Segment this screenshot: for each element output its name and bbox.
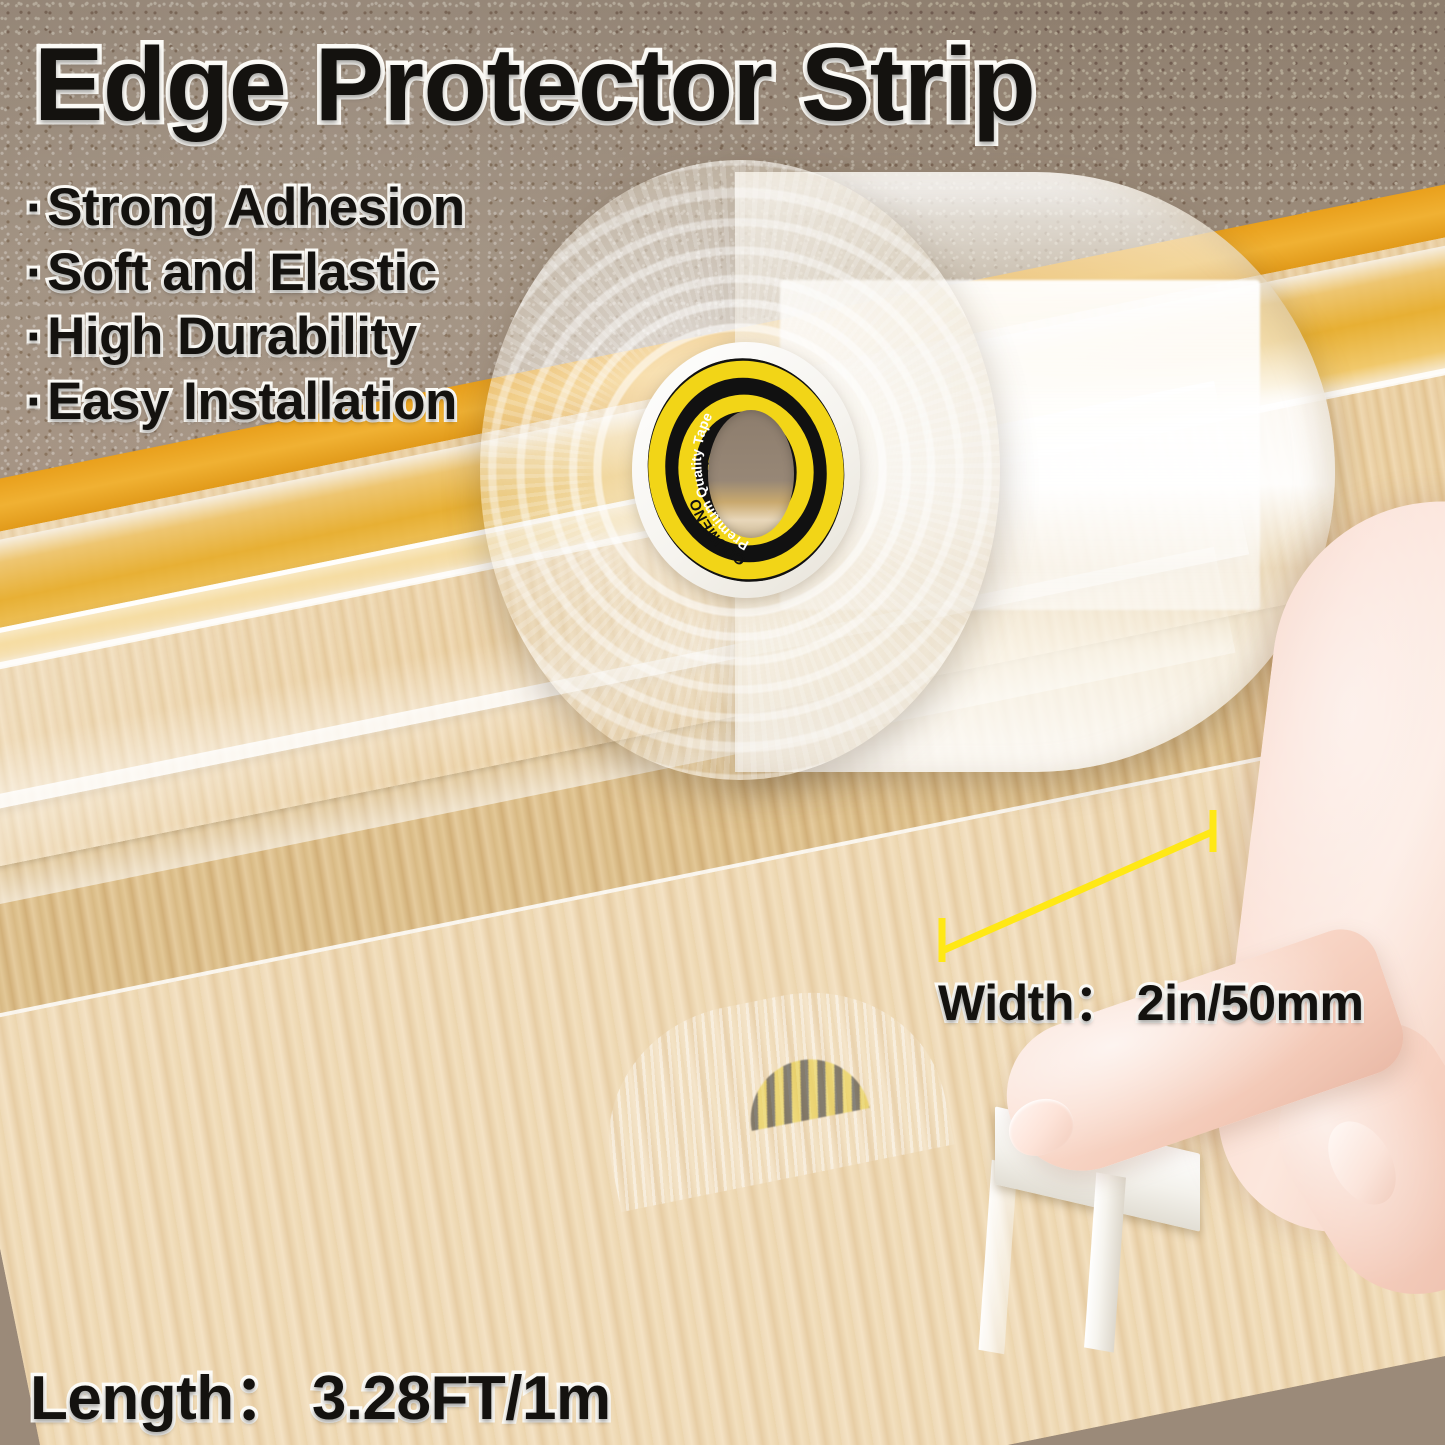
- bullet-dot-icon: ·: [26, 243, 43, 302]
- bullet-dot-icon: ·: [26, 307, 43, 366]
- bullet-dot-icon: ·: [26, 372, 43, 431]
- feature-list: ·Strong Adhesion ·Soft and Elastic ·High…: [26, 176, 465, 435]
- feature-label: Soft and Elastic: [47, 243, 437, 302]
- tape-roll: COUMENO Premium Quality Tape COUMENO Pre…: [480, 160, 1360, 800]
- feature-label: Easy Installation: [47, 372, 457, 431]
- feature-label: High Durability: [47, 307, 416, 366]
- page-title: Edge Protector Strip: [34, 32, 1035, 138]
- width-spec-label: Width： 2in/50mm: [938, 963, 1363, 1035]
- feature-item: ·Soft and Elastic: [26, 241, 465, 306]
- length-spec-label: Length： 3.28FT/1m: [30, 1347, 611, 1437]
- feature-item: ·Strong Adhesion: [26, 176, 465, 241]
- feature-item: ·Easy Installation: [26, 370, 465, 435]
- feature-label: Strong Adhesion: [47, 178, 464, 237]
- tape-roll-core-opening: [708, 410, 794, 538]
- feature-item: ·High Durability: [26, 305, 465, 370]
- bullet-dot-icon: ·: [26, 178, 43, 237]
- product-image: COUMENO Premium Quality Tape COUMENO Pre…: [0, 0, 1445, 1445]
